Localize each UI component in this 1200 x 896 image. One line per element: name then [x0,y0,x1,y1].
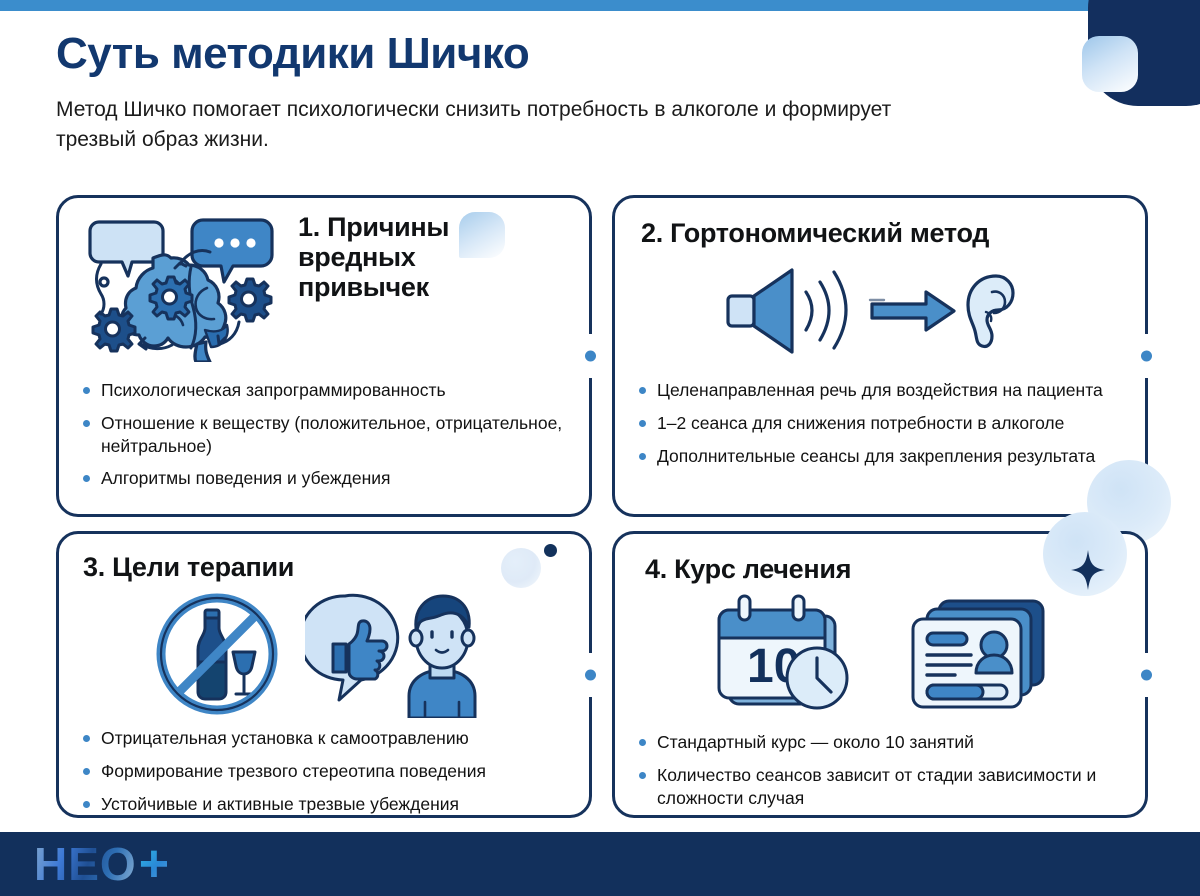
thumbs-up-person-icon [305,590,495,723]
card-1-notch-dot [585,334,595,378]
card-grid: 1. Причины вредных привычек Психологичес… [56,195,1148,818]
list-item: Дополнительные сеансы для закрепления ре… [635,445,1125,468]
list-item: Целенаправленная речь для воздействия на… [635,379,1125,402]
top-accent-bar [0,0,1200,11]
card-1-bullets: Психологическая запрограммированность От… [79,379,569,490]
no-alcohol-icon [153,590,281,723]
card-3-title: 3. Цели терапии [83,552,569,582]
card-2-method[interactable]: 2. Гортономический метод [612,195,1148,517]
card-4-icon-row: 10 [635,592,1125,721]
list-item: Формирование трезвого стереотипа поведен… [79,760,569,783]
logo-text: НЕО [34,841,137,887]
page-subtitle: Метод Шичко помогает психологически сниз… [56,95,956,155]
card-4-title: 4. Курс лечения [645,554,1125,584]
card-1-title: 1. Причины вредных привычек [298,212,548,303]
list-item: Отношение к веществу (положительное, отр… [79,412,569,458]
card-3-goals[interactable]: 3. Цели терапии [56,531,592,818]
infographic-page: Суть методики Шичко Метод Шичко помогает… [0,0,1200,896]
card-2-notch-dot [1141,334,1151,378]
page-title: Суть методики Шичко [56,30,1106,78]
card-3-icon-row [79,590,569,723]
card-1-causes[interactable]: 1. Причины вредных привычек Психологичес… [56,195,592,517]
card-3-notch-dot [585,653,595,697]
list-item: Количество сеансов зависит от стадии зав… [635,764,1125,810]
card-4-course[interactable]: 4. Курс лечения [612,531,1148,818]
list-item: Стандартный курс — около 10 занятий [635,731,1125,754]
list-item: Психологическая запрограммированность [79,379,569,402]
list-item: 1–2 сеанса для снижения потребности в ал… [635,412,1125,435]
list-item: Устойчивые и активные трезвые убеждения [79,793,569,816]
card-4-notch-dot [1141,653,1151,697]
logo-plus-icon: + [139,838,169,890]
list-item: Отрицательная установка к самоотравлению [79,727,569,750]
list-item: Алгоритмы поведения и убеждения [79,467,569,490]
corner-gradient-square [1082,36,1138,92]
card-3-bullets: Отрицательная установка к самоотравлению… [79,727,569,815]
card-2-icon-row [635,262,1125,363]
patient-cards-icon [905,595,1047,718]
brand-logo[interactable]: НЕО + [34,838,169,890]
calendar-clock-icon: 10 [713,592,855,721]
footer-bar: НЕО + [0,832,1200,896]
card-2-title: 2. Гортономический метод [641,218,1125,248]
card-4-bullets: Стандартный курс — около 10 занятий Коли… [635,731,1125,809]
card-2-bullets: Целенаправленная речь для воздействия на… [635,379,1125,467]
header: Суть методики Шичко Метод Шичко помогает… [56,30,1106,155]
brain-gears-speech-bubbles-icon [79,212,284,367]
speaker-arrow-ear-icon [720,262,1040,363]
